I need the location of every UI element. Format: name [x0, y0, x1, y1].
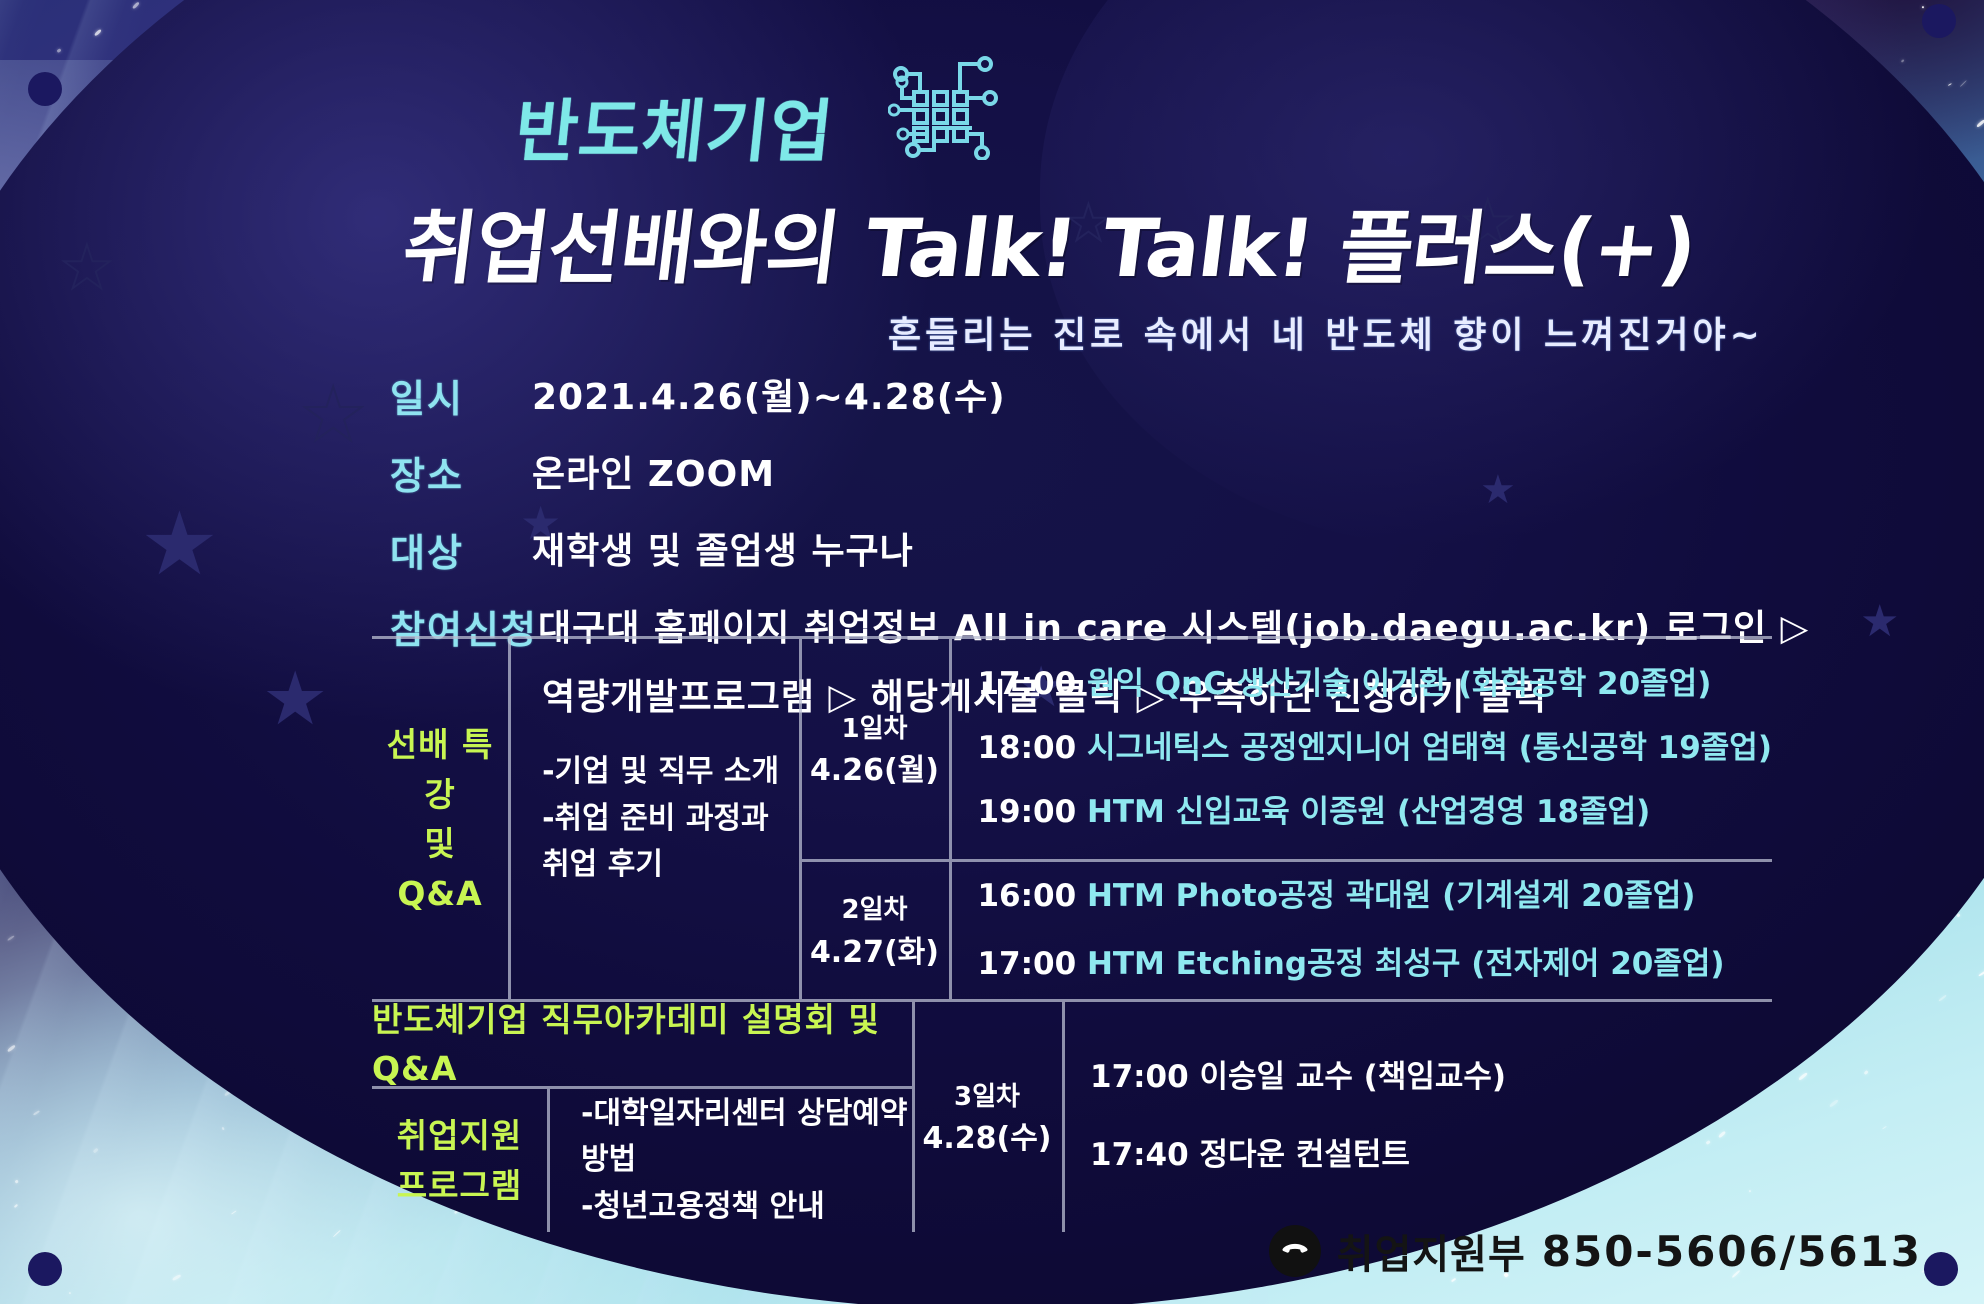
info-value-date: 2021.4.26(월)~4.28(수): [532, 368, 1006, 420]
session-text: HTM Etching공정 최성구 (전자제어 20졸업): [1087, 946, 1725, 982]
table-divider: [949, 862, 952, 999]
session-time: 18:00: [977, 730, 1076, 766]
category-label: 취업지원프로그램: [397, 1111, 522, 1210]
session-item: 19:00 HTM 신입교육 이종원 (산업경영 18졸업): [977, 792, 1772, 834]
day-label: 3일차 4.28(수): [922, 1074, 1051, 1161]
footer-contact: 취업지원부 850-5606/5613: [1269, 1222, 1922, 1280]
info-value-place: 온라인 ZOOM: [532, 445, 775, 497]
decor-star-icon: ★: [140, 500, 219, 588]
info-value-audience-text: 재학생 및 졸업생 누구나: [532, 522, 914, 574]
description-label: -기업 및 직무 소개-취업 준비 과정과 취업 후기: [542, 749, 799, 889]
session-time: 19:00: [977, 794, 1076, 830]
day-date: 4.28(수): [922, 1117, 1051, 1161]
day-label: 2일차 4.27(화): [810, 887, 939, 974]
session-item: 17:00 이승일 교수 (책임교수): [1090, 1057, 1772, 1099]
phone-icon: [1269, 1225, 1321, 1277]
corner-dot-bottom-left: [28, 1252, 62, 1286]
table-cell-sessions: 17:00 원익 QnC 생산기술 이기환 (화학공학 20졸업) 18:00 …: [949, 639, 1772, 859]
info-label-place: 장소: [390, 445, 532, 500]
session-item: 18:00 시그네틱스 공정엔지니어 엄태혁 (통신공학 19졸업): [977, 728, 1772, 770]
description-label: -대학일자리센터 상담예약 방법-청년고용정책 안내: [581, 1091, 912, 1231]
table-divider: [799, 862, 802, 999]
day-label: 1일차 4.26(월): [810, 706, 939, 793]
session-text: 시그네틱스 공정엔지니어 엄태혁 (통신공학 19졸업): [1087, 730, 1772, 766]
table-divider: [1062, 1002, 1065, 1232]
category-label: 반도체기업 직무아카데미 설명회 및 Q&A: [372, 995, 912, 1094]
info-label-date: 일시: [390, 368, 532, 423]
circuit-chip-icon: [888, 52, 1000, 164]
table-divider: [949, 639, 952, 859]
corner-dot-top-left: [28, 72, 62, 106]
decor-star-outline-icon: ★: [300, 378, 366, 452]
session-item: 16:00 HTM Photo공정 곽대원 (기계설계 20졸업): [977, 876, 1772, 918]
table-divider: [912, 1002, 915, 1232]
poster-tagline: 흔들리는 진로 속에서 네 반도체 향이 느껴진거야~: [888, 306, 1764, 358]
table-cell-day: 2일차 4.27(화): [799, 862, 949, 999]
session-time: 17:00: [977, 666, 1076, 702]
schedule-table: 선배 특강및Q&A -기업 및 직무 소개-취업 준비 과정과 취업 후기 1일…: [372, 636, 1772, 1232]
table-divider: [547, 1089, 550, 1232]
session-item: 17:00 원익 QnC 생산기술 이기환 (화학공학 20졸업): [977, 664, 1772, 706]
corner-dot-top-right: [1922, 4, 1956, 38]
day-number: 1일차: [841, 714, 907, 744]
session-time: 17:40: [1090, 1137, 1189, 1173]
table-cell-category: 취업지원프로그램: [372, 1089, 547, 1232]
decor-star-outline-icon: ★: [60, 238, 114, 298]
table-cell-sessions: 16:00 HTM Photo공정 곽대원 (기계설계 20졸업) 17:00 …: [949, 862, 1772, 999]
session-time: 17:00: [1090, 1059, 1189, 1095]
session-text: HTM Photo공정 곽대원 (기계설계 20졸업): [1087, 878, 1696, 914]
table-group-day3: 반도체기업 직무아카데미 설명회 및 Q&A 취업지원프로그램 -대학일자리센터…: [372, 1002, 1772, 1232]
table-cell-description: -대학일자리센터 상담예약 방법-청년고용정책 안내: [547, 1089, 912, 1232]
day-number: 3일차: [954, 1082, 1020, 1112]
category-label: 선배 특강및Q&A: [372, 720, 508, 918]
table-cell-day: 1일차 4.26(월): [799, 639, 949, 859]
footer-department: 취업지원부: [1337, 1222, 1526, 1280]
table-row-day1: 1일차 4.26(월) 17:00 원익 QnC 생산기술 이기환 (화학공학 …: [799, 639, 1772, 859]
session-item: 17:00 HTM Etching공정 최성구 (전자제어 20졸업): [977, 944, 1772, 986]
table-divider: [508, 639, 511, 999]
poster-kicker: 반도체기업: [511, 76, 839, 175]
day-date: 4.26(월): [810, 749, 939, 793]
session-text: HTM 신입교육 이종원 (산업경영 18졸업): [1087, 794, 1650, 830]
info-label-audience: 대상: [390, 522, 532, 577]
session-time: 16:00: [977, 878, 1076, 914]
table-group-lecture: 선배 특강및Q&A -기업 및 직무 소개-취업 준비 과정과 취업 후기 1일…: [372, 639, 1772, 999]
info-row-place: 장소 온라인 ZOOM: [390, 445, 1809, 500]
table-row-day2: 2일차 4.27(화) 16:00 HTM Photo공정 곽대원 (기계설계 …: [799, 862, 1772, 999]
poster-root: ★ ★ ★ ★ ★ ★ ★ ★ ★ ★ 반도체기업 취업선배와의 Talk! T…: [0, 0, 1984, 1304]
decor-star-icon: ★: [262, 662, 328, 736]
session-text: 정다운 컨설턴트: [1199, 1137, 1409, 1173]
session-time: 17:00: [977, 946, 1076, 982]
table-cell-category: 선배 특강및Q&A: [372, 639, 508, 999]
table-cell-academy: 반도체기업 직무아카데미 설명회 및 Q&A: [372, 1002, 912, 1086]
day-number: 2일차: [841, 895, 907, 925]
table-cell-description: -기업 및 직무 소개-취업 준비 과정과 취업 후기: [508, 639, 799, 999]
table-row-support: 취업지원프로그램 -대학일자리센터 상담예약 방법-청년고용정책 안내: [372, 1089, 912, 1232]
decor-star-icon: ★: [1860, 600, 1899, 644]
poster-title: 취업선배와의 Talk! Talk! 플러스(+): [397, 184, 1703, 300]
footer-phone-number: 850-5606/5613: [1542, 1227, 1922, 1276]
session-text: 이승일 교수 (책임교수): [1199, 1059, 1506, 1095]
info-row-audience: 대상 재학생 및 졸업생 누구나: [390, 522, 1809, 577]
table-cell-sessions: 17:00 이승일 교수 (책임교수) 17:40 정다운 컨설턴트: [1062, 1002, 1772, 1232]
table-divider: [799, 639, 802, 859]
session-text: 원익 QnC 생산기술 이기환 (화학공학 20졸업): [1087, 666, 1711, 702]
corner-dot-bottom-right: [1924, 1252, 1958, 1286]
day-date: 4.27(화): [810, 931, 939, 975]
session-item: 17:40 정다운 컨설턴트: [1090, 1135, 1772, 1177]
table-cell-day: 3일차 4.28(수): [912, 1002, 1062, 1232]
info-row-date: 일시 2021.4.26(월)~4.28(수): [390, 368, 1809, 423]
